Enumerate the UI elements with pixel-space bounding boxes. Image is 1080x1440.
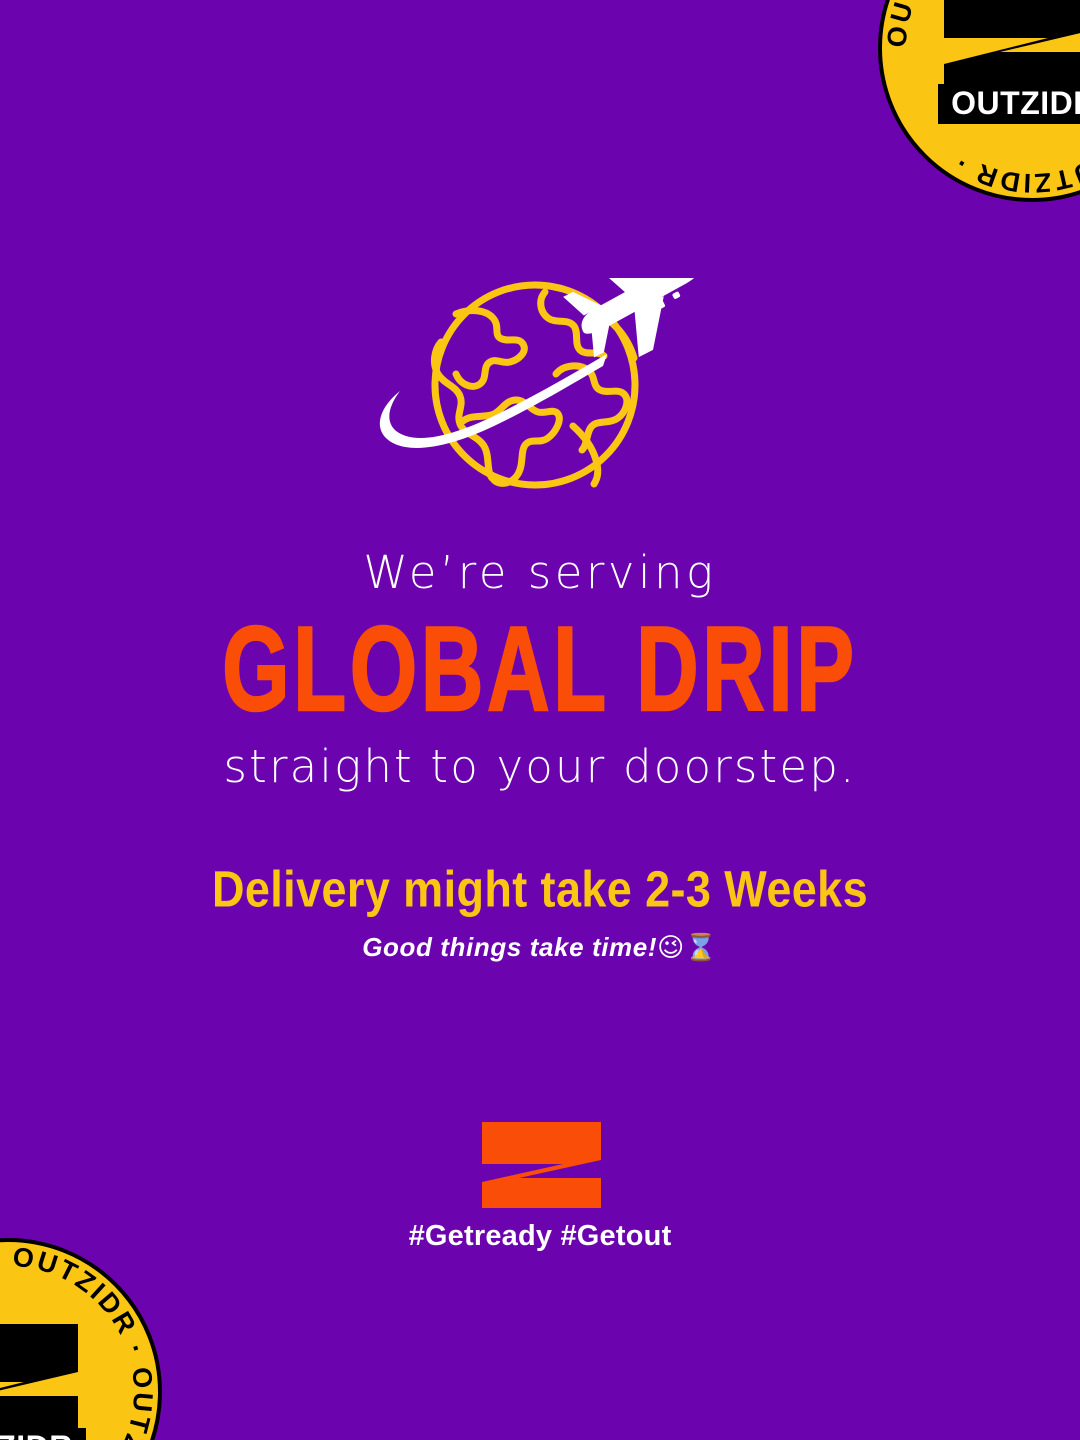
badge-sticker-icon: OUTZIDR · OUTZIDR · OUTZIDR · OUTZIDR · … (872, 0, 1080, 208)
globe-airplane-icon (360, 278, 720, 510)
badge-wordmark-text: OUTZIDR (951, 85, 1080, 121)
headline-main: GLOBAL DRIP (32, 610, 1047, 730)
globe-airplane-illustration (360, 278, 720, 510)
hashtags-line: #Getready #Getout (0, 1220, 1080, 1253)
badge-wordmark: OUTZIDR (0, 1428, 86, 1440)
badge-wordmark: OUTZIDR (938, 84, 1080, 124)
delivery-subtext-words: Good things take time! (362, 932, 657, 962)
wink-hourglass-emoji: 😉⌛ (657, 933, 718, 963)
headline-post: straight to your doorstep. (0, 742, 1080, 792)
headline-pre: We’re serving (0, 548, 1080, 598)
badge-wordmark-text: OUTZIDR (0, 1429, 73, 1440)
poster-canvas: OUTZIDR · OUTZIDR · OUTZIDR · OUTZIDR · … (0, 0, 1080, 1440)
delivery-estimate-line: Delivery might take 2-3 Weeks (0, 861, 1080, 917)
delivery-subtext: Good things take time!😉⌛ (0, 932, 1080, 964)
headline-copy-block: We’re serving GLOBAL DRIP straight to yo… (0, 548, 1080, 964)
z-logo-icon (479, 1122, 601, 1208)
outzidr-badge-bottom-left: OUTZIDR · OUTZIDR · OUTZIDR · OUTZIDR · … (0, 1232, 168, 1440)
footer-brand-block: #Getready #Getout (0, 1122, 1080, 1253)
outzidr-badge-top-right: OUTZIDR · OUTZIDR · OUTZIDR · OUTZIDR · … (872, 0, 1080, 208)
badge-sticker-icon: OUTZIDR · OUTZIDR · OUTZIDR · OUTZIDR · … (0, 1232, 168, 1440)
